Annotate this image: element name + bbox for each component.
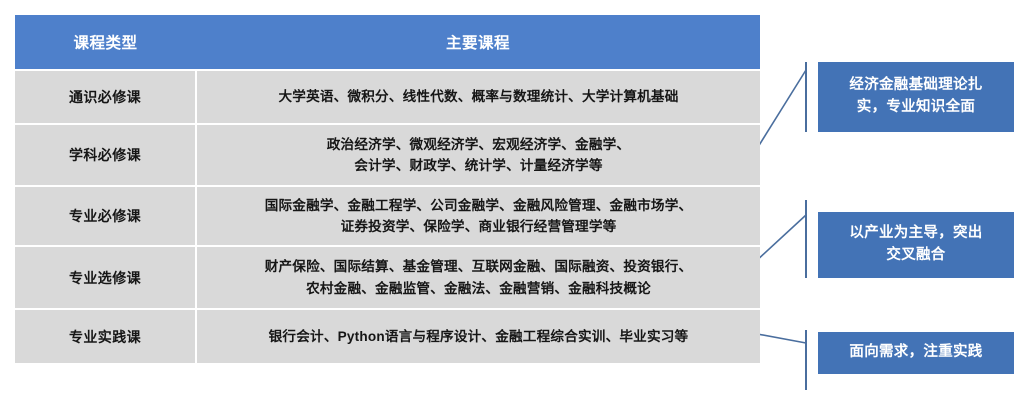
- table-row: 专业实践课 银行会计、Python语言与程序设计、金融工程综合实训、毕业实习等: [15, 309, 760, 363]
- cell-course-type: 通识必修课: [15, 70, 196, 124]
- cell-main-courses: 政治经济学、微观经济学、宏观经济学、金融学、 会计学、财政学、统计学、计量经济学…: [196, 124, 760, 186]
- callout-line: 经济金融基础理论扎: [849, 75, 982, 97]
- slide-canvas: 课程类型 主要课程 通识必修课 大学英语、微积分、线性代数、概率与数理统计、大学…: [0, 0, 1024, 406]
- table-row: 专业选修课 财产保险、国际结算、基金管理、互联网金融、国际融资、投资银行、 农村…: [15, 246, 760, 309]
- course-line: 大学英语、微积分、线性代数、概率与数理统计、大学计算机基础: [205, 86, 752, 107]
- cell-main-courses: 财产保险、国际结算、基金管理、互联网金融、国际融资、投资银行、 农村金融、金融监…: [196, 246, 760, 309]
- cell-main-courses: 大学英语、微积分、线性代数、概率与数理统计、大学计算机基础: [196, 70, 760, 124]
- callout-box-practice-oriented: 面向需求，注重实践: [818, 332, 1014, 374]
- course-line: 国际金融学、金融工程学、公司金融学、金融风险管理、金融市场学、: [205, 195, 752, 216]
- table-row: 学科必修课 政治经济学、微观经济学、宏观经济学、金融学、 会计学、财政学、统计学…: [15, 124, 760, 186]
- cell-course-type: 专业实践课: [15, 309, 196, 363]
- cell-main-courses: 国际金融学、金融工程学、公司金融学、金融风险管理、金融市场学、 证券投资学、保险…: [196, 186, 760, 246]
- callout-line: 交叉融合: [849, 245, 982, 267]
- cell-main-courses: 银行会计、Python语言与程序设计、金融工程综合实训、毕业实习等: [196, 309, 760, 363]
- course-table: 课程类型 主要课程 通识必修课 大学英语、微积分、线性代数、概率与数理统计、大学…: [15, 15, 760, 363]
- cell-course-type: 专业选修课: [15, 246, 196, 309]
- callout-box-theory-foundation: 经济金融基础理论扎 实，专业知识全面: [818, 62, 1014, 132]
- callout-line: 面向需求，注重实践: [849, 342, 982, 364]
- course-line: 会计学、财政学、统计学、计量经济学等: [205, 155, 752, 176]
- table-row: 通识必修课 大学英语、微积分、线性代数、概率与数理统计、大学计算机基础: [15, 70, 760, 124]
- course-line: 政治经济学、微观经济学、宏观经济学、金融学、: [205, 134, 752, 155]
- column-header-course-type: 课程类型: [15, 15, 196, 70]
- callout-line: 实，专业知识全面: [849, 97, 982, 119]
- course-line: 证券投资学、保险学、商业银行经营管理学等: [205, 216, 752, 237]
- table-row: 专业必修课 国际金融学、金融工程学、公司金融学、金融风险管理、金融市场学、 证券…: [15, 186, 760, 246]
- callout-line: 以产业为主导，突出: [849, 223, 982, 245]
- column-header-main-courses: 主要课程: [196, 15, 760, 70]
- course-line: 财产保险、国际结算、基金管理、互联网金融、国际融资、投资银行、: [205, 256, 752, 277]
- course-line: 银行会计、Python语言与程序设计、金融工程综合实训、毕业实习等: [205, 326, 752, 347]
- cell-course-type: 专业必修课: [15, 186, 196, 246]
- callout-box-industry-led: 以产业为主导，突出 交叉融合: [818, 212, 1014, 278]
- cell-course-type: 学科必修课: [15, 124, 196, 186]
- table-header-row: 课程类型 主要课程: [15, 15, 760, 70]
- course-line: 农村金融、金融监管、金融法、金融营销、金融科技概论: [205, 278, 752, 299]
